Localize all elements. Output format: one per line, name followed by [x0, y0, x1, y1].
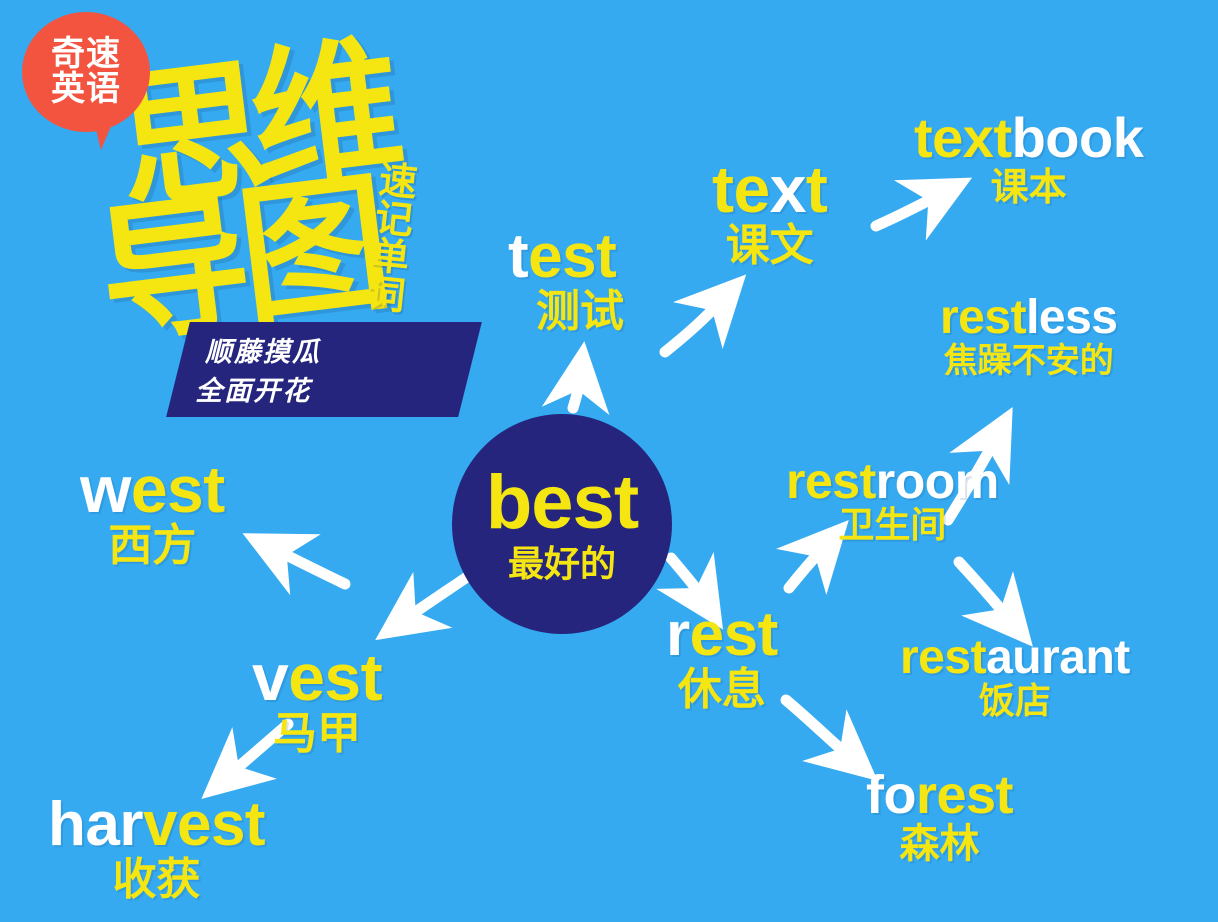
arrow-test-to-text — [665, 300, 722, 352]
node-textbook[interactable]: textbook 课本 — [914, 110, 1143, 206]
node-harvest-word: harvest — [48, 794, 265, 856]
brand-badge-line2: 英语 — [51, 72, 121, 107]
arrow-rest-to-restroom — [789, 546, 825, 588]
node-text-word: text — [712, 156, 827, 222]
node-vest[interactable]: vest 马甲 — [252, 644, 382, 756]
brand-badge-line1: 奇速 — [51, 37, 121, 72]
node-restroom-gloss: 卫生间 — [786, 508, 999, 544]
node-restless-gloss: 焦躁不安的 — [940, 344, 1117, 378]
node-west-word: west — [80, 456, 225, 522]
node-west[interactable]: west 西方 — [80, 456, 225, 568]
node-harvest-gloss: 收获 — [48, 858, 265, 902]
masthead: 奇速 英语 思 维 导 图 速记单词 顺藤摸瓜 全面开花 — [0, 0, 470, 390]
node-test[interactable]: test 测试 — [508, 226, 624, 334]
node-restaurant-word: restaurant — [900, 634, 1130, 682]
node-test-gloss: 测试 — [508, 290, 624, 334]
node-textbook-word: textbook — [914, 110, 1143, 166]
root-node-best[interactable]: best 最好的 — [452, 414, 672, 634]
arrow-best-to-vest — [404, 577, 467, 620]
arrow-restroom-to-restaurant — [959, 562, 1010, 620]
node-west-gloss: 西方 — [80, 524, 225, 568]
node-textbook-gloss: 课本 — [914, 168, 1143, 206]
tagline-ribbon: 顺藤摸瓜 全面开花 — [166, 322, 482, 417]
node-forest-word: forest — [866, 768, 1013, 822]
tagline-left: 顺藤摸瓜 — [205, 330, 321, 369]
tagline-right: 全面开花 — [195, 369, 311, 408]
arrow-best-to-rest — [671, 558, 704, 600]
arrow-vest-to-west — [274, 549, 345, 584]
node-restless[interactable]: restless 焦躁不安的 — [940, 294, 1117, 378]
node-restless-word: restless — [940, 294, 1117, 342]
arrow-rest-to-forest — [786, 700, 851, 758]
node-harvest[interactable]: harvest 收获 — [48, 794, 265, 902]
node-test-word: test — [508, 226, 624, 288]
node-forest[interactable]: forest 森林 — [866, 768, 1013, 864]
node-text[interactable]: text 课文 — [712, 156, 827, 268]
node-vest-word: vest — [252, 644, 382, 710]
node-rest[interactable]: rest 休息 — [666, 604, 778, 712]
mindmap-canvas: 奇速 英语 思 维 导 图 速记单词 顺藤摸瓜 全面开花 best 最好的 te… — [0, 0, 1218, 922]
node-text-gloss: 课文 — [712, 224, 827, 268]
brand-badge: 奇速 英语 — [22, 12, 150, 132]
node-rest-word: rest — [666, 604, 778, 666]
node-restroom[interactable]: restroom 卫生间 — [786, 456, 999, 544]
root-node-word: best — [486, 465, 638, 541]
node-rest-gloss: 休息 — [666, 668, 778, 712]
node-vest-gloss: 马甲 — [252, 712, 382, 756]
node-forest-gloss: 森林 — [866, 824, 1013, 864]
node-restroom-word: restroom — [786, 456, 999, 506]
root-node-gloss: 最好的 — [508, 547, 616, 583]
node-restaurant[interactable]: restaurant 饭店 — [900, 634, 1130, 720]
node-restaurant-gloss: 饭店 — [900, 684, 1130, 720]
arrow-best-to-test — [573, 376, 580, 408]
